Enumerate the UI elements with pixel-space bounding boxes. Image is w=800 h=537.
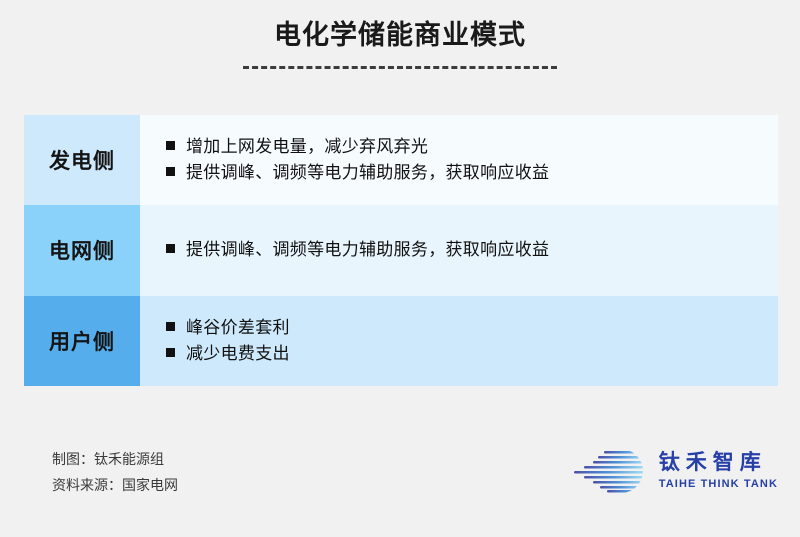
- table-row: 发电侧 增加上网发电量，减少弃风弃光 提供调峰、调频等电力辅助服务，获取响应收益: [24, 115, 778, 205]
- row-label-generation: 发电侧: [24, 115, 140, 205]
- list-item-text: 提供调峰、调频等电力辅助服务，获取响应收益: [186, 237, 549, 263]
- list-item-text: 提供调峰、调频等电力辅助服务，获取响应收益: [186, 160, 549, 186]
- bullet-square-icon: [166, 244, 175, 253]
- row-label-user: 用户侧: [24, 296, 140, 386]
- footer-notes: 制图：钛禾能源组 资料来源：国家电网: [52, 446, 178, 498]
- list-item: 提供调峰、调频等电力辅助服务，获取响应收益: [166, 160, 778, 186]
- list-item: 峰谷价差套利: [166, 315, 778, 341]
- list-item-text: 峰谷价差套利: [186, 315, 290, 341]
- brand-wordmark: 钛禾智库 TAIHE THINK TANK: [659, 451, 778, 492]
- bullet-square-icon: [166, 322, 175, 331]
- speed-lines-logo-icon: [573, 449, 647, 493]
- page-title-block: 电化学储能商业模式: [0, 18, 800, 69]
- bullet-square-icon: [166, 141, 175, 150]
- bullet-square-icon: [166, 167, 175, 176]
- list-item: 增加上网发电量，减少弃风弃光: [166, 134, 778, 160]
- footer-credit: 制图：钛禾能源组: [52, 446, 178, 472]
- brand-name-en: TAIHE THINK TANK: [659, 477, 778, 492]
- table-row: 用户侧 峰谷价差套利 减少电费支出: [24, 296, 778, 386]
- table-row: 电网侧 提供调峰、调频等电力辅助服务，获取响应收益: [24, 205, 778, 295]
- list-item: 提供调峰、调频等电力辅助服务，获取响应收益: [166, 237, 778, 263]
- brand-logo: 钛禾智库 TAIHE THINK TANK: [573, 449, 778, 493]
- brand-name-cn: 钛禾智库: [659, 451, 778, 475]
- list-item: 减少电费支出: [166, 341, 778, 367]
- footer-source: 资料来源：国家电网: [52, 472, 178, 498]
- list-item-text: 减少电费支出: [186, 341, 290, 367]
- page-title: 电化学储能商业模式: [0, 18, 800, 52]
- list-item-text: 增加上网发电量，减少弃风弃光: [186, 134, 428, 160]
- row-content-user: 峰谷价差套利 减少电费支出: [140, 296, 778, 386]
- row-content-grid: 提供调峰、调频等电力辅助服务，获取响应收益: [140, 205, 778, 295]
- business-model-matrix: 发电侧 增加上网发电量，减少弃风弃光 提供调峰、调频等电力辅助服务，获取响应收益…: [24, 115, 778, 386]
- title-dashed-rule: [243, 66, 557, 69]
- row-label-grid: 电网侧: [24, 205, 140, 295]
- bullet-square-icon: [166, 348, 175, 357]
- row-content-generation: 增加上网发电量，减少弃风弃光 提供调峰、调频等电力辅助服务，获取响应收益: [140, 115, 778, 205]
